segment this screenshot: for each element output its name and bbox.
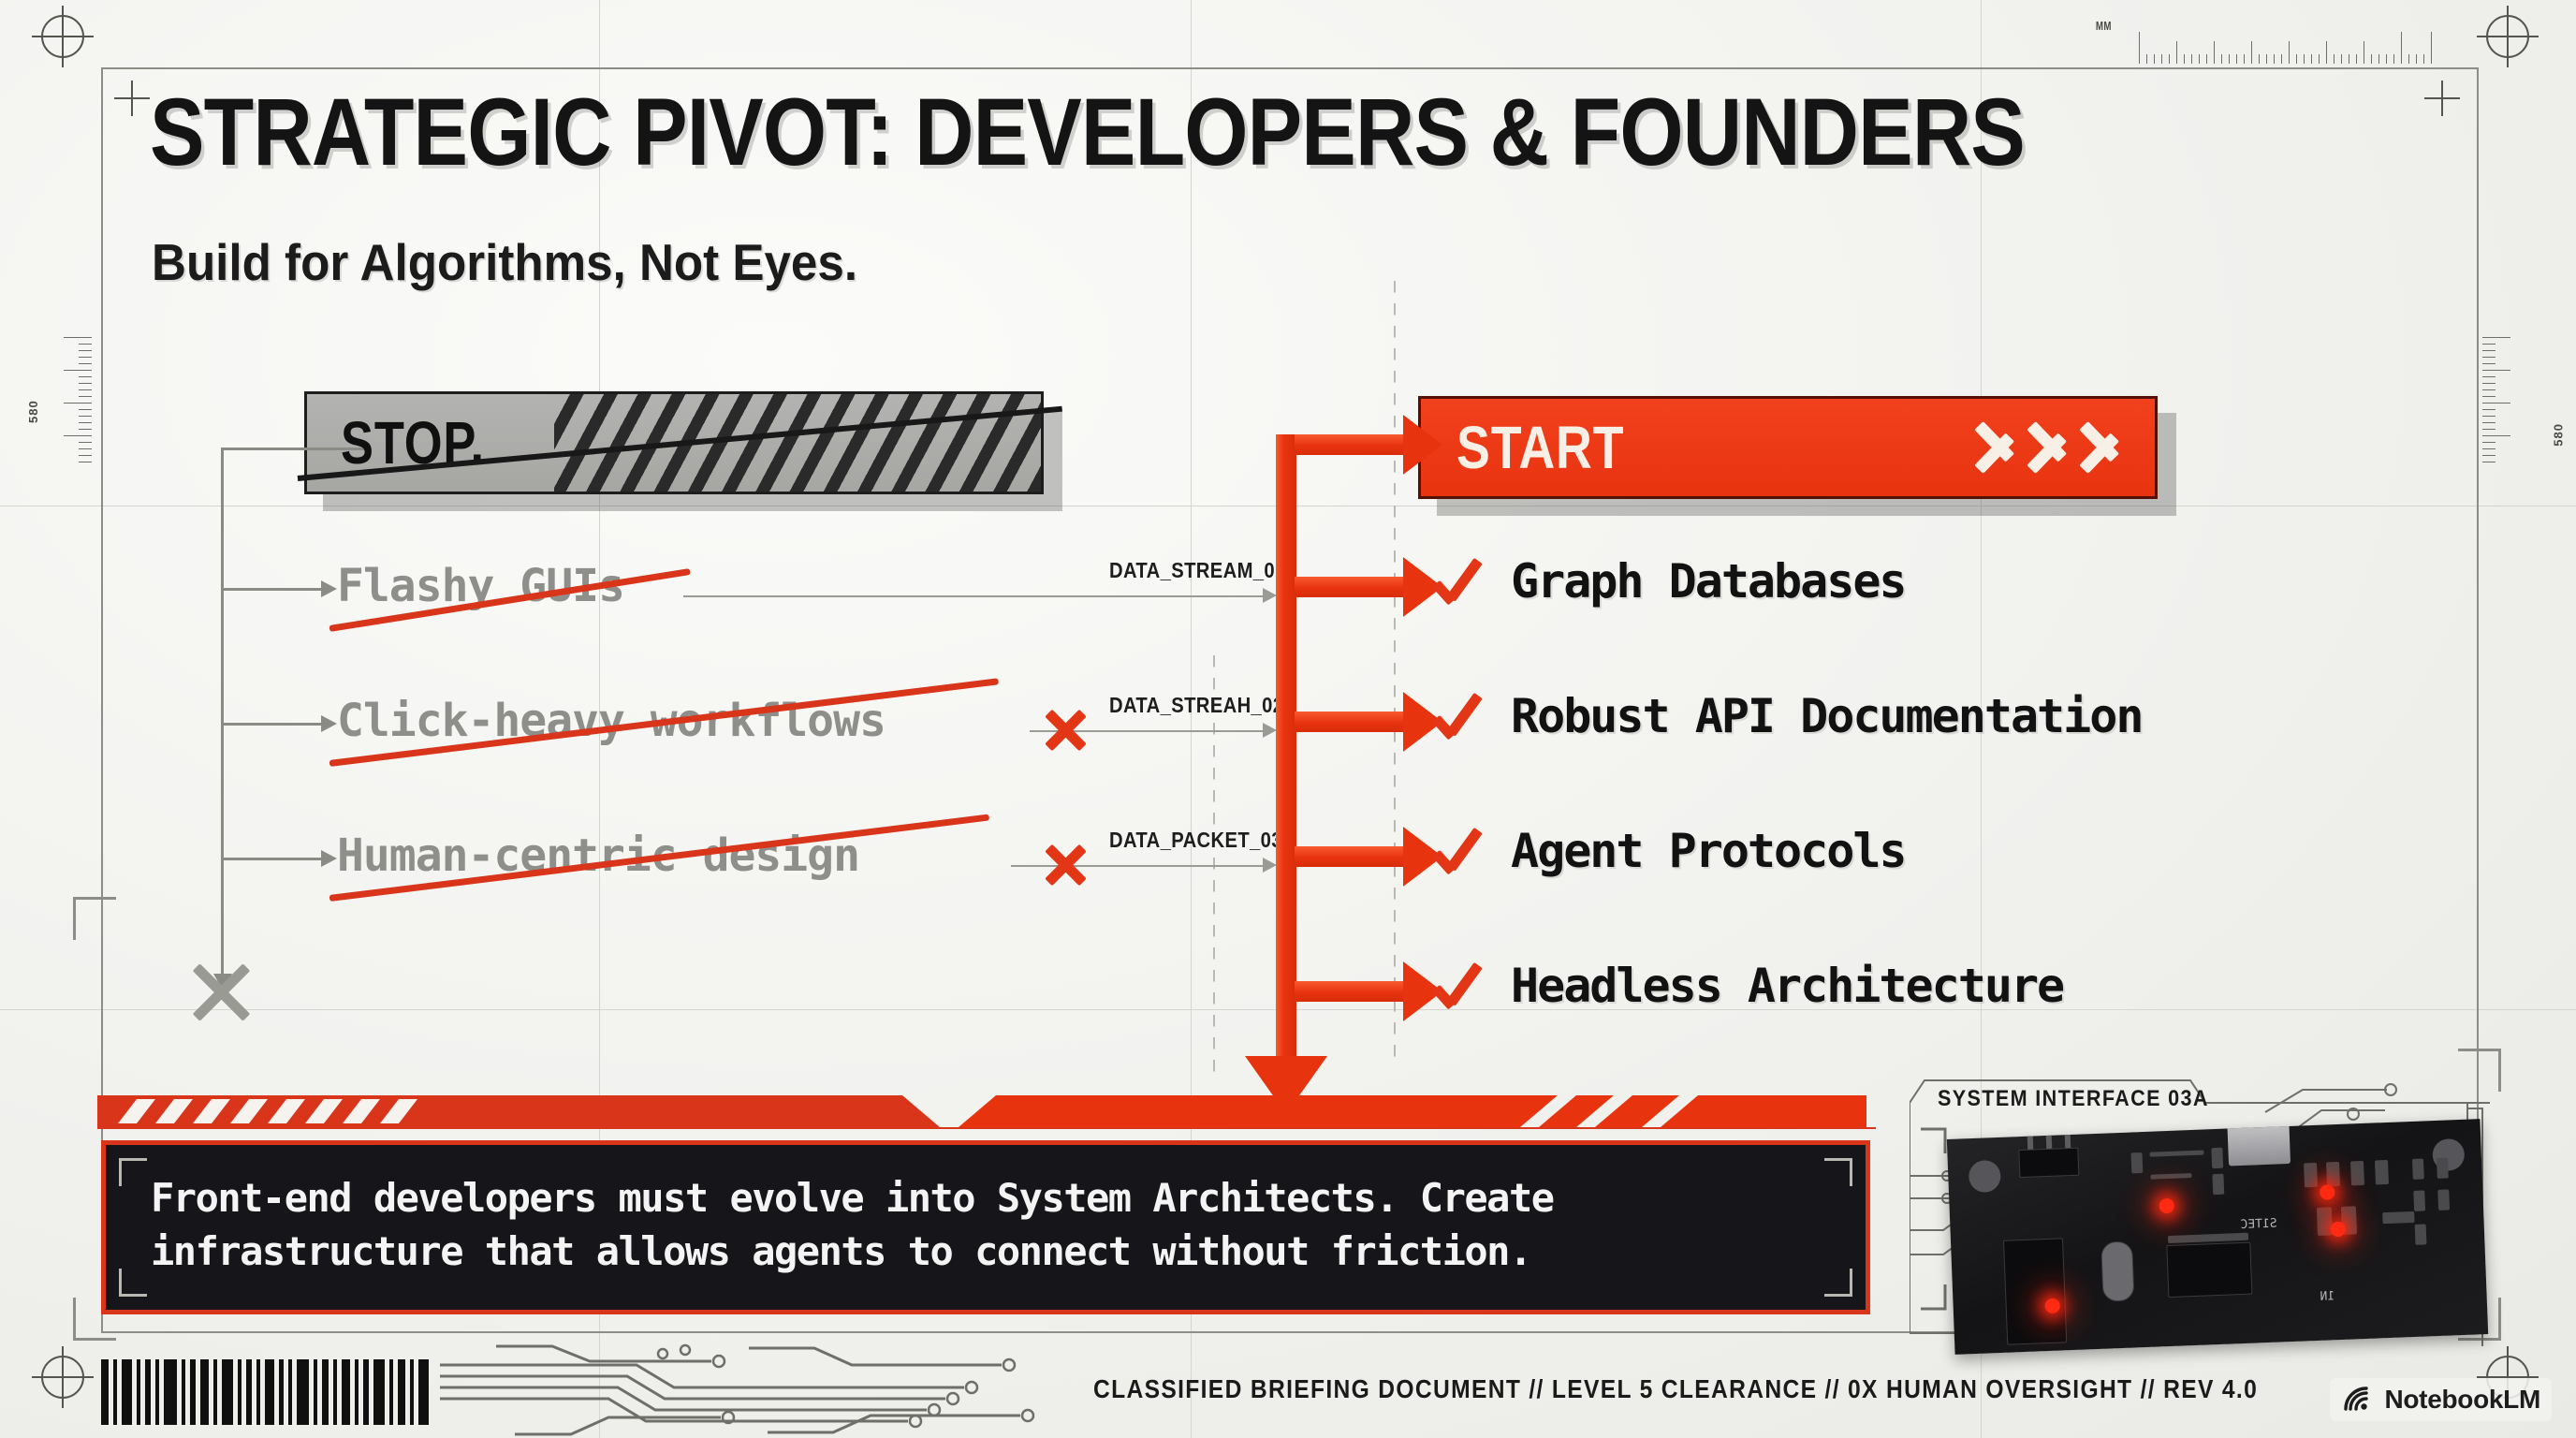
pcb-led-indicator bbox=[2320, 1184, 2335, 1200]
reject-x-icon bbox=[1041, 841, 1090, 889]
check-icon bbox=[1432, 824, 1486, 878]
start-label: START bbox=[1456, 413, 1624, 482]
chevron-right-icon bbox=[1975, 399, 2026, 496]
pcb-photo: S1TEC 1N bbox=[1947, 1119, 2488, 1355]
pcb-pad bbox=[2382, 1211, 2414, 1224]
start-bus-branch bbox=[1295, 434, 1405, 455]
stop-item-label: Human-centric design bbox=[337, 829, 859, 882]
hatch-pattern bbox=[554, 394, 1041, 492]
start-item: Robust API Documentation bbox=[1432, 689, 2142, 743]
chevron-right-icon bbox=[2080, 399, 2130, 496]
pcb-pad bbox=[2375, 1160, 2389, 1185]
corner-bracket bbox=[119, 1269, 147, 1297]
corner-bracket bbox=[119, 1158, 147, 1186]
start-item-label: Robust API Documentation bbox=[1511, 689, 2142, 743]
notebooklm-watermark-label: NotebookLM bbox=[2384, 1385, 2540, 1415]
barcode bbox=[101, 1359, 433, 1425]
registration-target-icon bbox=[41, 15, 84, 58]
infographic-page: MM 580 580 STRATEGIC PIVOT: DEVELOPERS &… bbox=[0, 0, 2576, 1438]
start-banner: START bbox=[1418, 396, 2158, 499]
pcb-module bbox=[2003, 1238, 2067, 1344]
start-bus-branch bbox=[1295, 846, 1405, 867]
start-item-label: Graph Databases bbox=[1511, 554, 1906, 609]
notebooklm-logo-icon bbox=[2341, 1384, 2373, 1416]
data-stream-label: DATA_PACKET_03 bbox=[1109, 828, 1282, 853]
footer-classification-text: CLASSIFIED BRIEFING DOCUMENT // LEVEL 5 … bbox=[1093, 1374, 2258, 1404]
pcb-pad bbox=[2212, 1174, 2224, 1195]
ruler-left bbox=[54, 337, 92, 524]
start-item-label: Headless Architecture bbox=[1511, 959, 2063, 1013]
stop-bus-branch bbox=[221, 858, 322, 860]
check-icon bbox=[1432, 959, 1486, 1013]
pcb-capacitor bbox=[2100, 1240, 2134, 1301]
ruler-right bbox=[2482, 337, 2520, 524]
start-bus-branch bbox=[1295, 712, 1405, 732]
pcb-ic bbox=[2166, 1242, 2252, 1298]
cancel-x-icon bbox=[185, 957, 256, 1028]
chevron-group bbox=[1975, 399, 2130, 496]
data-stream-line bbox=[683, 595, 1264, 597]
check-icon bbox=[1432, 554, 1486, 609]
start-item: Graph Databases bbox=[1432, 554, 1906, 609]
pcb-trace bbox=[2149, 1150, 2203, 1156]
registration-target-icon bbox=[2486, 15, 2529, 58]
start-item-label: Agent Protocols bbox=[1511, 824, 1906, 878]
pcb-led-indicator bbox=[2330, 1222, 2346, 1238]
corner-bracket bbox=[1824, 1158, 1852, 1186]
pcb-pad bbox=[2412, 1158, 2424, 1179]
pcb-pad bbox=[2130, 1152, 2143, 1173]
data-stream-label: DATA_STREAH_02 bbox=[1109, 693, 1283, 718]
start-bus-vertical bbox=[1276, 434, 1296, 1071]
ruler-left-label: 580 bbox=[26, 400, 40, 423]
callout-panel: Front-end developers must evolve into Sy… bbox=[101, 1140, 1870, 1314]
start-item: Agent Protocols bbox=[1432, 824, 1906, 878]
pcb-pad bbox=[2437, 1157, 2449, 1178]
pcb-trace bbox=[2150, 1173, 2191, 1180]
stop-bus-branch bbox=[221, 723, 322, 726]
pcb-mount-hole bbox=[1969, 1160, 2001, 1193]
check-icon bbox=[1432, 689, 1486, 743]
corner-bracket bbox=[73, 897, 116, 940]
registration-target-icon bbox=[41, 1356, 84, 1399]
reject-x-icon bbox=[1041, 706, 1090, 755]
notebooklm-watermark: NotebookLM bbox=[2330, 1378, 2552, 1421]
page-title: STRATEGIC PIVOT: DEVELOPERS & FOUNDERS bbox=[150, 84, 2025, 180]
pcb-header-block bbox=[2018, 1148, 2079, 1178]
start-item: Headless Architecture bbox=[1432, 959, 2063, 1013]
ruler-top bbox=[2139, 26, 2465, 64]
pcb-pad bbox=[2211, 1148, 2223, 1168]
pcb-pad bbox=[2413, 1190, 2425, 1211]
pcb-pad bbox=[2350, 1161, 2364, 1186]
ruler-right-label: 580 bbox=[2552, 423, 2566, 447]
system-panel-label: SYSTEM INTERFACE 03A bbox=[1938, 1086, 2209, 1112]
callout-text: Front-end developers must evolve into Sy… bbox=[151, 1171, 1828, 1278]
pcb-pad bbox=[2304, 1163, 2318, 1188]
ruler-top-label: MM bbox=[2096, 19, 2112, 33]
system-interface-panel: SYSTEM INTERFACE 03A bbox=[1910, 1075, 2490, 1346]
pcb-pad bbox=[2326, 1162, 2340, 1187]
pcb-pad bbox=[2415, 1224, 2427, 1244]
stop-bus-vertical bbox=[221, 448, 224, 981]
corner-bracket bbox=[1824, 1269, 1852, 1297]
callout-header-strip bbox=[97, 1093, 1876, 1129]
start-bus-branch bbox=[1295, 981, 1405, 1002]
pcb-silkscreen-text: 1N bbox=[2320, 1289, 2334, 1304]
stop-bus-branch bbox=[221, 588, 322, 591]
start-bus-branch bbox=[1295, 577, 1405, 597]
pcb-silkscreen-text: S1TEC bbox=[2240, 1217, 2277, 1232]
chevron-right-icon bbox=[2027, 399, 2078, 496]
pcb-led-indicator bbox=[2159, 1198, 2174, 1214]
pcb-pad bbox=[2437, 1189, 2450, 1210]
data-stream-label: DATA_STREAM_01 bbox=[1109, 558, 1286, 583]
page-subtitle: Build for Algorithms, Not Eyes. bbox=[152, 232, 857, 292]
circuit-traces-decoration bbox=[440, 1341, 1114, 1438]
